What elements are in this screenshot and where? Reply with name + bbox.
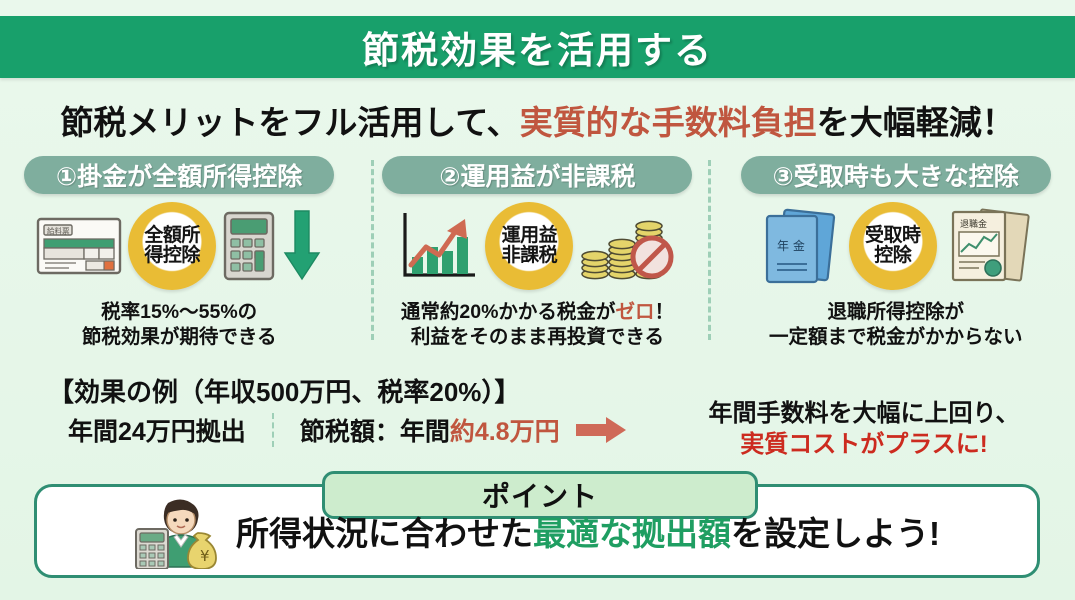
benefit-badge-line1-3: 受取時 [865, 226, 921, 246]
growth-chart-icon [399, 209, 479, 283]
benefit-column-1: ①掛金が全額所得控除 給料票 [0, 156, 358, 366]
benefit-column-2: ②運用益が非課税 [358, 156, 716, 366]
right-note: 年間手数料を大幅に上回り、 実質コストがプラスに! [664, 398, 1064, 460]
right-note-line2: 実質コストがプラスに! [664, 429, 1064, 460]
benefit-columns: ①掛金が全額所得控除 給料票 [0, 156, 1075, 366]
benefit-pill-1: ①掛金が全額所得控除 [24, 156, 334, 194]
example-saving-prefix: 節税額：年間 [300, 418, 450, 446]
subtitle: 節税メリットをフル活用して、実質的な手数料負担を大幅軽減！ [0, 96, 1075, 144]
infographic-root: 節税効果を活用する 節税メリットをフル活用して、実質的な手数料負担を大幅軽減！ … [0, 0, 1075, 600]
calculator-icon [222, 210, 276, 282]
benefit-caption-line1-2: 通常約20%かかる税金がゼロ！ [401, 300, 674, 325]
point-message-highlight: 最適な拠出額 [533, 515, 731, 552]
benefit-caption-line1-3: 退職所得控除が [769, 300, 1023, 325]
benefit-badge-3: 受取時 控除 [849, 202, 937, 290]
benefit-caption-line2-1: 節税効果が期待できる [82, 325, 277, 350]
point-message-part1: 所得状況に合わせた [236, 515, 533, 552]
svg-text:¥: ¥ [200, 547, 210, 565]
payslip-icon: 給料票 [36, 215, 122, 277]
benefit-icons-3: 年 金 受取時 控除 退職金 [757, 196, 1035, 296]
pension-booklet-icon: 年 金 [757, 206, 843, 286]
svg-text:年 金: 年 金 [777, 238, 805, 253]
example-contribution: 年間24万円拠出 [68, 412, 246, 448]
benefit-badge-line1-1: 全額所 [144, 226, 200, 246]
benefit-caption-line2-3: 一定額まで税金がかからない [769, 325, 1023, 350]
benefit-caption-2: 通常約20%かかる税金がゼロ！ 利益をそのまま再投資できる [401, 300, 674, 350]
benefit-caption-line2-2: 利益をそのまま再投資できる [401, 325, 674, 350]
benefit-caption-1: 税率15%〜55%の 節税効果が期待できる [82, 300, 277, 350]
benefit-badge-1: 全額所 得控除 [128, 202, 216, 290]
benefit-icons-2: 運用益 非課税 [399, 196, 675, 296]
example-row: 年間24万円拠出 節税額：年間約4.8万円 [68, 412, 628, 448]
benefit-badge-line2-2: 非課税 [502, 246, 558, 266]
svg-text:給料票: 給料票 [47, 226, 70, 236]
svg-text:退職金: 退職金 [960, 218, 987, 230]
benefit-pill-label-1: ①掛金が全額所得控除 [56, 157, 302, 193]
benefit-pill-label-2: ②運用益が非課税 [439, 157, 635, 193]
benefit-pill-label-3: ③受取時も大きな控除 [773, 157, 1019, 193]
down-arrow-icon [282, 209, 322, 283]
documents-icon: 退職金 [943, 206, 1035, 286]
example-heading: 【効果の例（年収500万円、税率20%）】 [48, 372, 520, 409]
benefit-caption-line1-1: 税率15%〜55%の [82, 300, 277, 325]
right-arrow-icon [574, 415, 628, 445]
benefit-badge-line1-2: 運用益 [502, 226, 558, 246]
title-band: 節税効果を活用する [0, 16, 1075, 78]
benefit-badge-line2-1: 得控除 [144, 246, 200, 266]
point-content: ¥ 所得状況に合わせた最適な拠出額を設定しよう! [34, 484, 1040, 578]
benefit-caption-3: 退職所得控除が 一定額まで税金がかからない [769, 300, 1023, 350]
benefit-badge-2: 運用益 非課税 [485, 202, 573, 290]
benefit-icons-1: 給料票 全額所 得控除 [36, 196, 322, 296]
right-note-line1: 年間手数料を大幅に上回り、 [664, 398, 1064, 429]
benefit-badge-line2-3: 控除 [874, 246, 911, 266]
benefit-pill-3: ③受取時も大きな控除 [741, 156, 1051, 194]
point-message: 所得状況に合わせた最適な拠出額を設定しよう! [236, 507, 940, 555]
page-title: 節税効果を活用する [362, 20, 713, 74]
benefit-caption-line1-2-highlight: ゼロ [615, 301, 654, 323]
example-saving: 節税額：年間約4.8万円 [300, 412, 560, 448]
benefit-caption-line1-2b: ！ [654, 301, 674, 323]
person-with-calculator-and-moneybag-icon: ¥ [134, 493, 226, 569]
subtitle-highlight: 実質的な手数料負担 [520, 104, 817, 141]
benefit-column-3: ③受取時も大きな控除 年 金 受取時 控除 [717, 156, 1075, 366]
subtitle-part1: 節税メリットをフル活用して、 [60, 104, 519, 141]
subtitle-part2: を大幅軽減！ [817, 104, 1015, 141]
example-divider [272, 413, 274, 447]
benefit-caption-line1-2a: 通常約20%かかる税金が [401, 301, 616, 323]
benefit-pill-2: ②運用益が非課税 [382, 156, 692, 194]
prohibition-icon [629, 234, 675, 280]
example-saving-amount: 約4.8万円 [450, 418, 560, 446]
point-message-part2: を設定しよう! [731, 515, 940, 552]
